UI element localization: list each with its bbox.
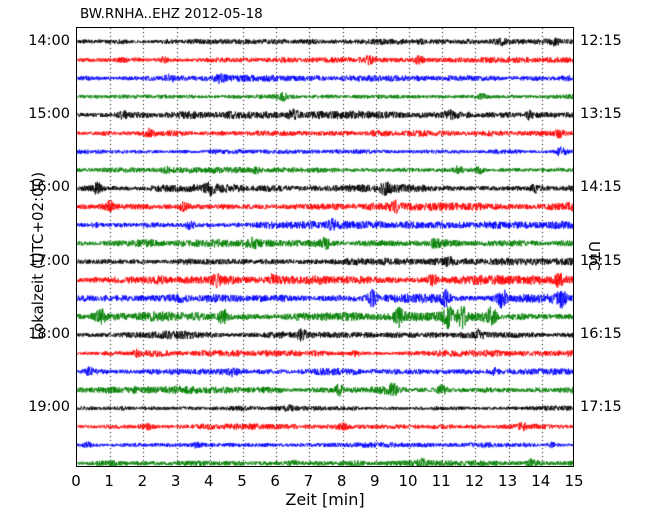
seismic-traces — [77, 28, 574, 467]
y-tick-left-15-00: 15:00 — [8, 106, 70, 122]
x-tick-1: 1 — [104, 472, 114, 490]
x-tick-7: 7 — [304, 472, 314, 490]
y-tick-left-14-00: 14:00 — [8, 33, 70, 49]
x-axis-title: Zeit [min] — [76, 490, 574, 509]
x-tick-2: 2 — [138, 472, 148, 490]
x-tick-4: 4 — [204, 472, 214, 490]
seismogram-figure: BW.RNHA..EHZ 2012-05-18 14:0015:0016:001… — [0, 0, 650, 520]
x-tick-11: 11 — [432, 472, 451, 490]
y-tick-right-17-15: 17:15 — [580, 399, 622, 415]
y-tick-right-14-15: 14:15 — [580, 179, 622, 195]
x-tick-13: 13 — [498, 472, 517, 490]
y-tick-left-19-00: 19:00 — [8, 399, 70, 415]
right-axis-title: UTC — [585, 196, 603, 316]
x-tick-0: 0 — [71, 472, 81, 490]
y-tick-right-13-15: 13:15 — [580, 106, 622, 122]
x-tick-3: 3 — [171, 472, 181, 490]
plot-area[interactable] — [76, 27, 574, 467]
x-tick-12: 12 — [465, 472, 484, 490]
x-tick-8: 8 — [337, 472, 347, 490]
x-tick-14: 14 — [531, 472, 550, 490]
x-tick-15: 15 — [564, 472, 583, 490]
y-tick-right-16-15: 16:15 — [580, 326, 622, 342]
x-tick-6: 6 — [270, 472, 280, 490]
x-tick-9: 9 — [370, 472, 380, 490]
y-tick-right-12-15: 12:15 — [580, 33, 622, 49]
x-tick-10: 10 — [398, 472, 417, 490]
x-tick-5: 5 — [237, 472, 247, 490]
left-axis-title: Lokalzeit (UTC+02:00) — [29, 126, 47, 386]
page-title: BW.RNHA..EHZ 2012-05-18 — [80, 6, 263, 22]
